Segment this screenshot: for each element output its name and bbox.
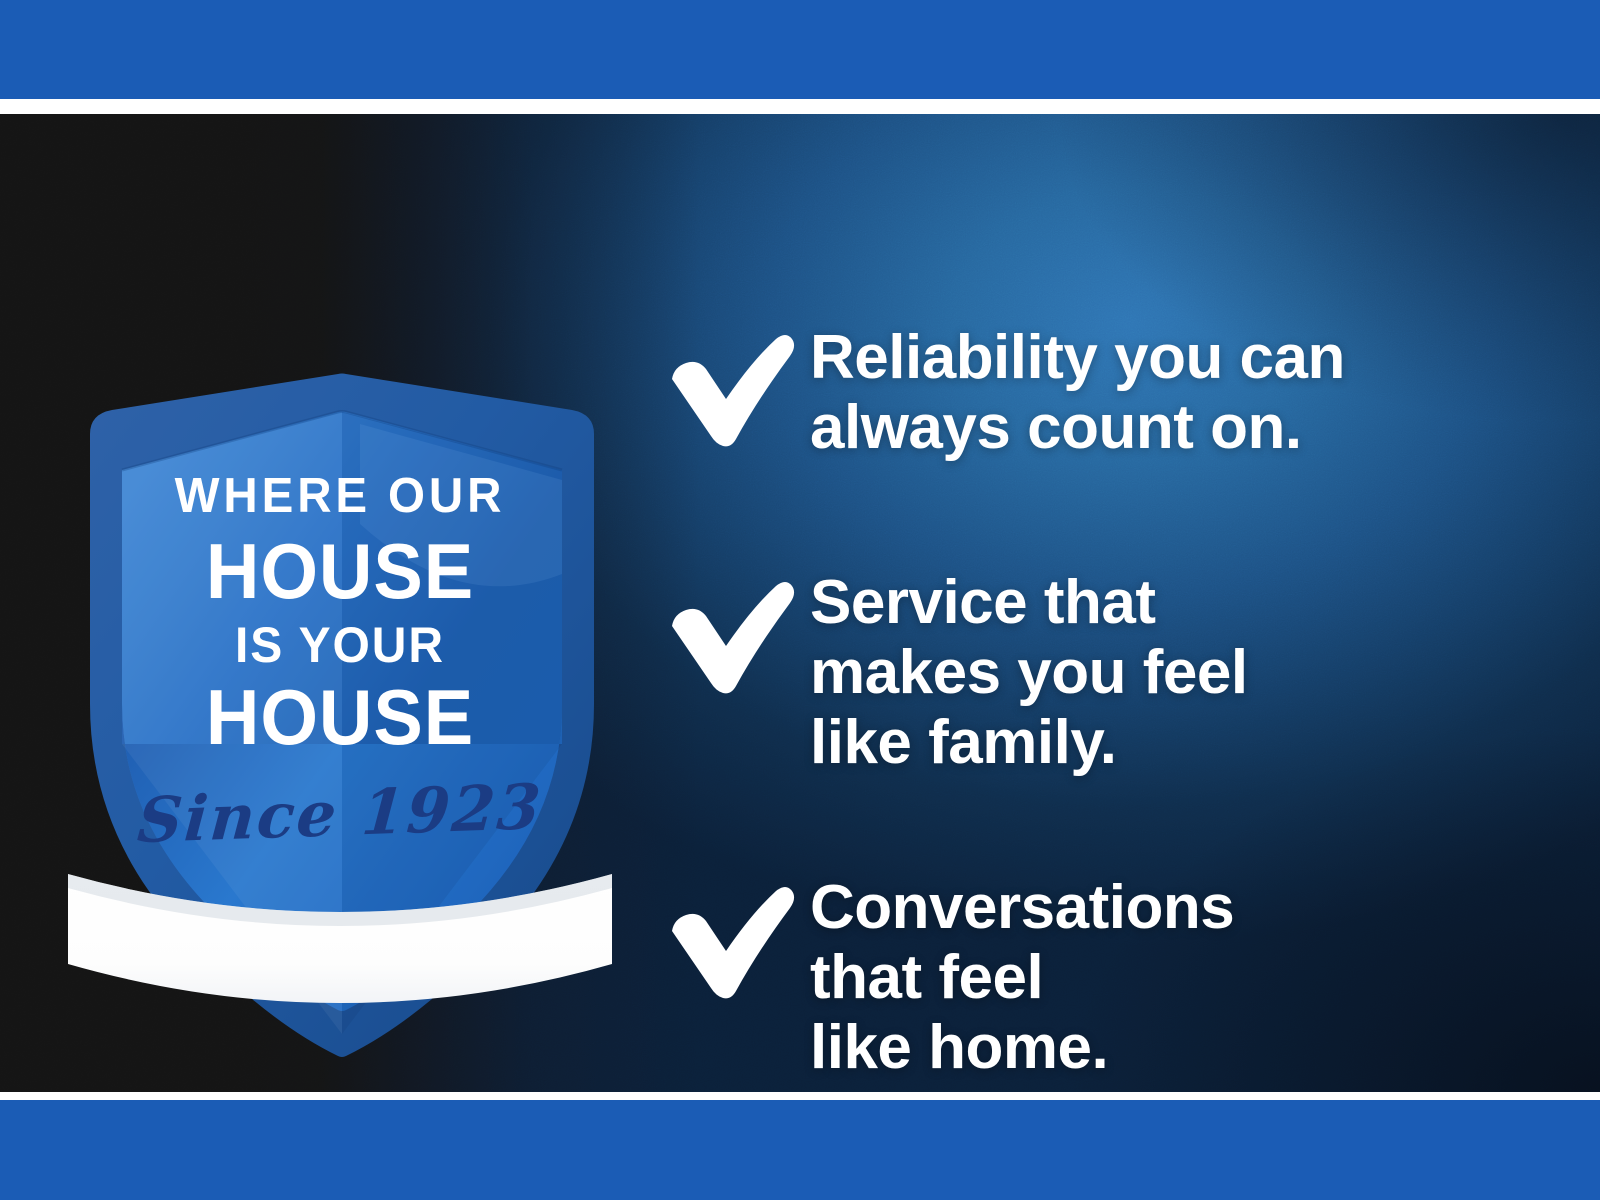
claim-item: Reliability you can always count on.	[660, 323, 1540, 463]
bottom-divider	[0, 1092, 1600, 1100]
claim-text: Conversations that feel like home.	[810, 873, 1234, 1083]
claims-list: Reliability you can always count on. Ser…	[660, 228, 1540, 1092]
poster-stage: WHERE OUR HOUSE IS YOUR HOUSE Since 1923…	[0, 114, 1600, 1092]
promo-poster: WHERE OUR HOUSE IS YOUR HOUSE Since 1923…	[0, 0, 1600, 1200]
top-brand-bar	[0, 0, 1600, 99]
top-divider	[0, 99, 1600, 114]
claim-line: makes you feel	[810, 638, 1248, 708]
badge-line-house-2: HOUSE	[74, 678, 606, 756]
claim-line: always count on.	[810, 393, 1345, 463]
claim-line: like family.	[810, 708, 1248, 778]
claim-item: Conversations that feel like home.	[660, 873, 1540, 1083]
claim-line: like home.	[810, 1013, 1234, 1083]
company-badge: WHERE OUR HOUSE IS YOUR HOUSE Since 1923	[60, 274, 620, 1064]
claim-text: Service that makes you feel like family.	[810, 568, 1248, 778]
check-icon	[660, 873, 810, 1004]
badge-text-block: WHERE OUR HOUSE IS YOUR HOUSE	[60, 274, 620, 1064]
claim-text: Reliability you can always count on.	[810, 323, 1345, 463]
bottom-brand-bar	[0, 1100, 1600, 1200]
check-icon	[660, 568, 810, 699]
badge-line-where: WHERE OUR	[68, 472, 611, 521]
claim-line: that feel	[810, 943, 1234, 1013]
check-icon	[660, 323, 810, 452]
claim-item: Service that makes you feel like family.	[660, 568, 1540, 778]
badge-line-is-your: IS YOUR	[71, 620, 609, 670]
claim-line: Service that	[810, 568, 1248, 638]
claim-line: Reliability you can	[810, 323, 1345, 393]
claim-line: Conversations	[810, 873, 1234, 943]
badge-line-house-1: HOUSE	[74, 532, 606, 610]
